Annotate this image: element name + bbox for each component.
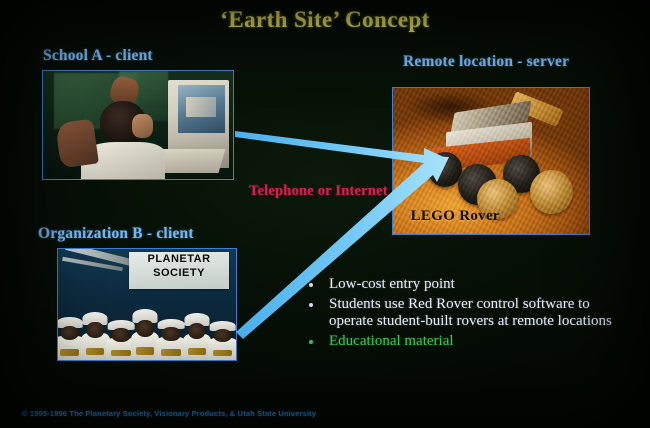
- photo-lego-rover: LEGO Rover: [392, 87, 590, 235]
- monitor-screen: [178, 85, 226, 133]
- list-item: Low-cost entry point: [303, 276, 621, 293]
- photo-planetary-society-group: PLANETAR SOCIETY: [57, 248, 237, 361]
- copyright-footer: © 1995-1996 The Planetary Society, Visio…: [22, 409, 316, 418]
- list-item: Educational material: [303, 333, 621, 350]
- caption-organization-b: Organization B - client: [38, 225, 194, 243]
- caption-school-a: School A - client: [43, 47, 153, 65]
- page-title: ‘Earth Site’ Concept: [0, 7, 650, 33]
- list-item: Students use Red Rover control software …: [303, 296, 621, 330]
- banner-text-line2: SOCIETY: [129, 266, 229, 280]
- person: [156, 319, 186, 360]
- bullet-list: Low-cost entry point Students use Red Ro…: [303, 276, 621, 353]
- telephone-internet-label: Telephone or Internet: [249, 183, 388, 200]
- banner-text-line1: PLANETAR: [129, 252, 229, 266]
- person: [208, 321, 237, 360]
- student-face: [132, 114, 153, 138]
- presentation-slide: ‘Earth Site’ Concept School A - client O…: [0, 0, 650, 428]
- crowd-of-students: [58, 293, 236, 360]
- screen-image: [186, 97, 215, 117]
- lego-rover-label: LEGO Rover: [411, 208, 500, 225]
- caption-remote-location: Remote location - server: [403, 53, 569, 71]
- student-arm: [55, 118, 99, 168]
- photo-student-at-computer: [42, 70, 234, 180]
- planetary-society-banner: PLANETAR SOCIETY: [129, 252, 229, 289]
